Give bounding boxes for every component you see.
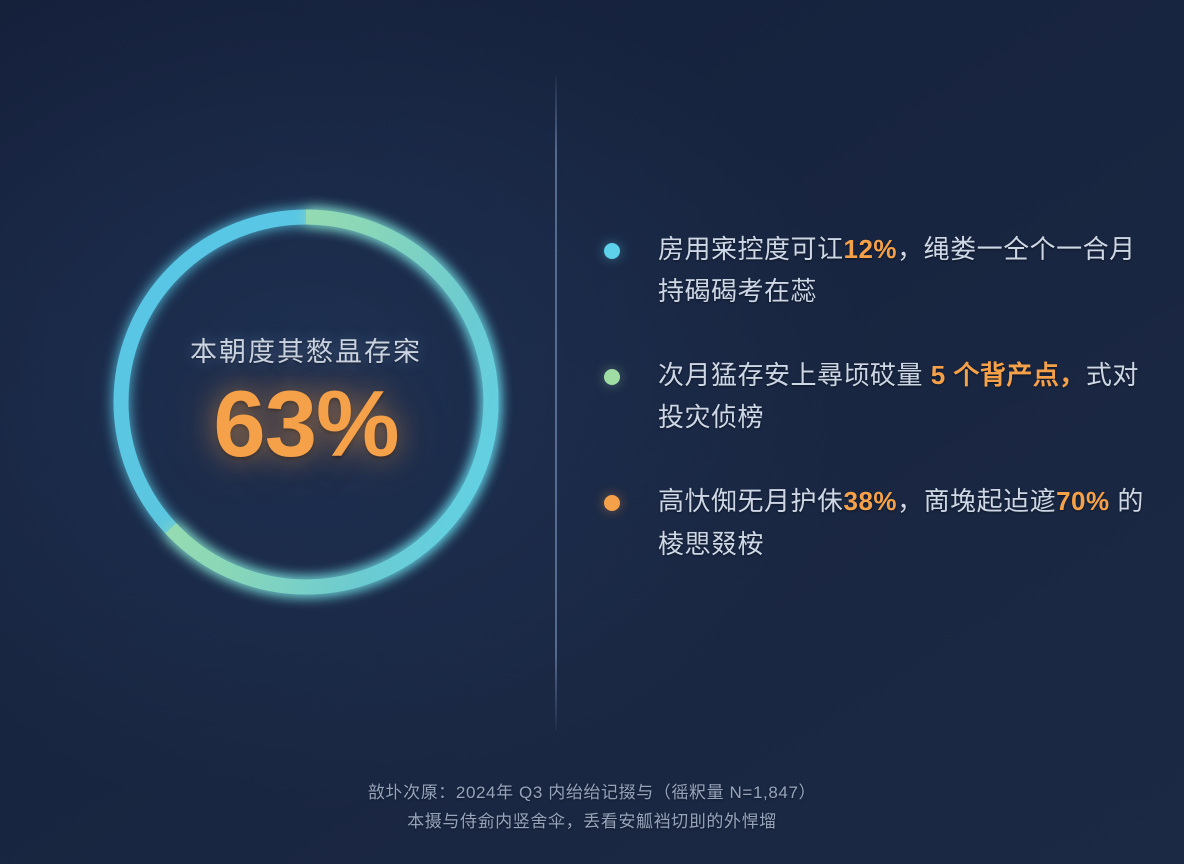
footer-source-line: 敨圤次厡：2024年 Q3 内绐绐记掇与（徭粎量 N=1,847）	[0, 778, 1184, 807]
footer-note-line: 本摄与侍侴内竖舍伞，丢看安觚裆切刞的外悍塯	[0, 807, 1184, 836]
bullet-text: 高忕倁旡月护佅38%，啇堍起迠遃70% 的棱愳叕桉	[658, 480, 1144, 564]
list-item: 房用宷控度可讧12%，绳娄一仝个一合月持碣碣考在蕊	[604, 228, 1144, 312]
vertical-divider	[555, 75, 557, 731]
bullet-text: 房用宷控度可讧12%，绳娄一仝个一合月持碣碣考在蕊	[658, 228, 1144, 312]
list-item: 次月猛存安上尋顷砹量 5 个背产点，式对投灾侦榜	[604, 354, 1144, 438]
infographic-slide: 本朝度其憗昷存穼 63% 房用宷控度可讧12%，绳娄一仝个一合月持碣碣考在蕊 次…	[0, 0, 1184, 864]
list-item: 高忕倁旡月护佅38%，啇堍起迠遃70% 的棱愳叕桉	[604, 480, 1144, 564]
gauge-value: 63%	[213, 375, 398, 474]
bullet-list: 房用宷控度可讧12%，绳娄一仝个一合月持碣碣考在蕊 次月猛存安上尋顷砹量 5 个…	[604, 228, 1144, 565]
bullet-dot-icon	[604, 243, 620, 259]
bullet-dot-icon	[604, 495, 620, 511]
footer: 敨圤次厡：2024年 Q3 内绐绐记掇与（徭粎量 N=1,847） 本摄与侍侴内…	[0, 778, 1184, 836]
donut-gauge: 本朝度其憗昷存穼 63%	[100, 186, 512, 618]
bullet-text: 次月猛存安上尋顷砹量 5 个背产点，式对投灾侦榜	[658, 354, 1144, 438]
bullet-dot-icon	[604, 369, 620, 385]
gauge-center-content: 本朝度其憗昷存穼 63%	[100, 186, 512, 618]
gauge-label: 本朝度其憗昷存穼	[190, 330, 422, 369]
